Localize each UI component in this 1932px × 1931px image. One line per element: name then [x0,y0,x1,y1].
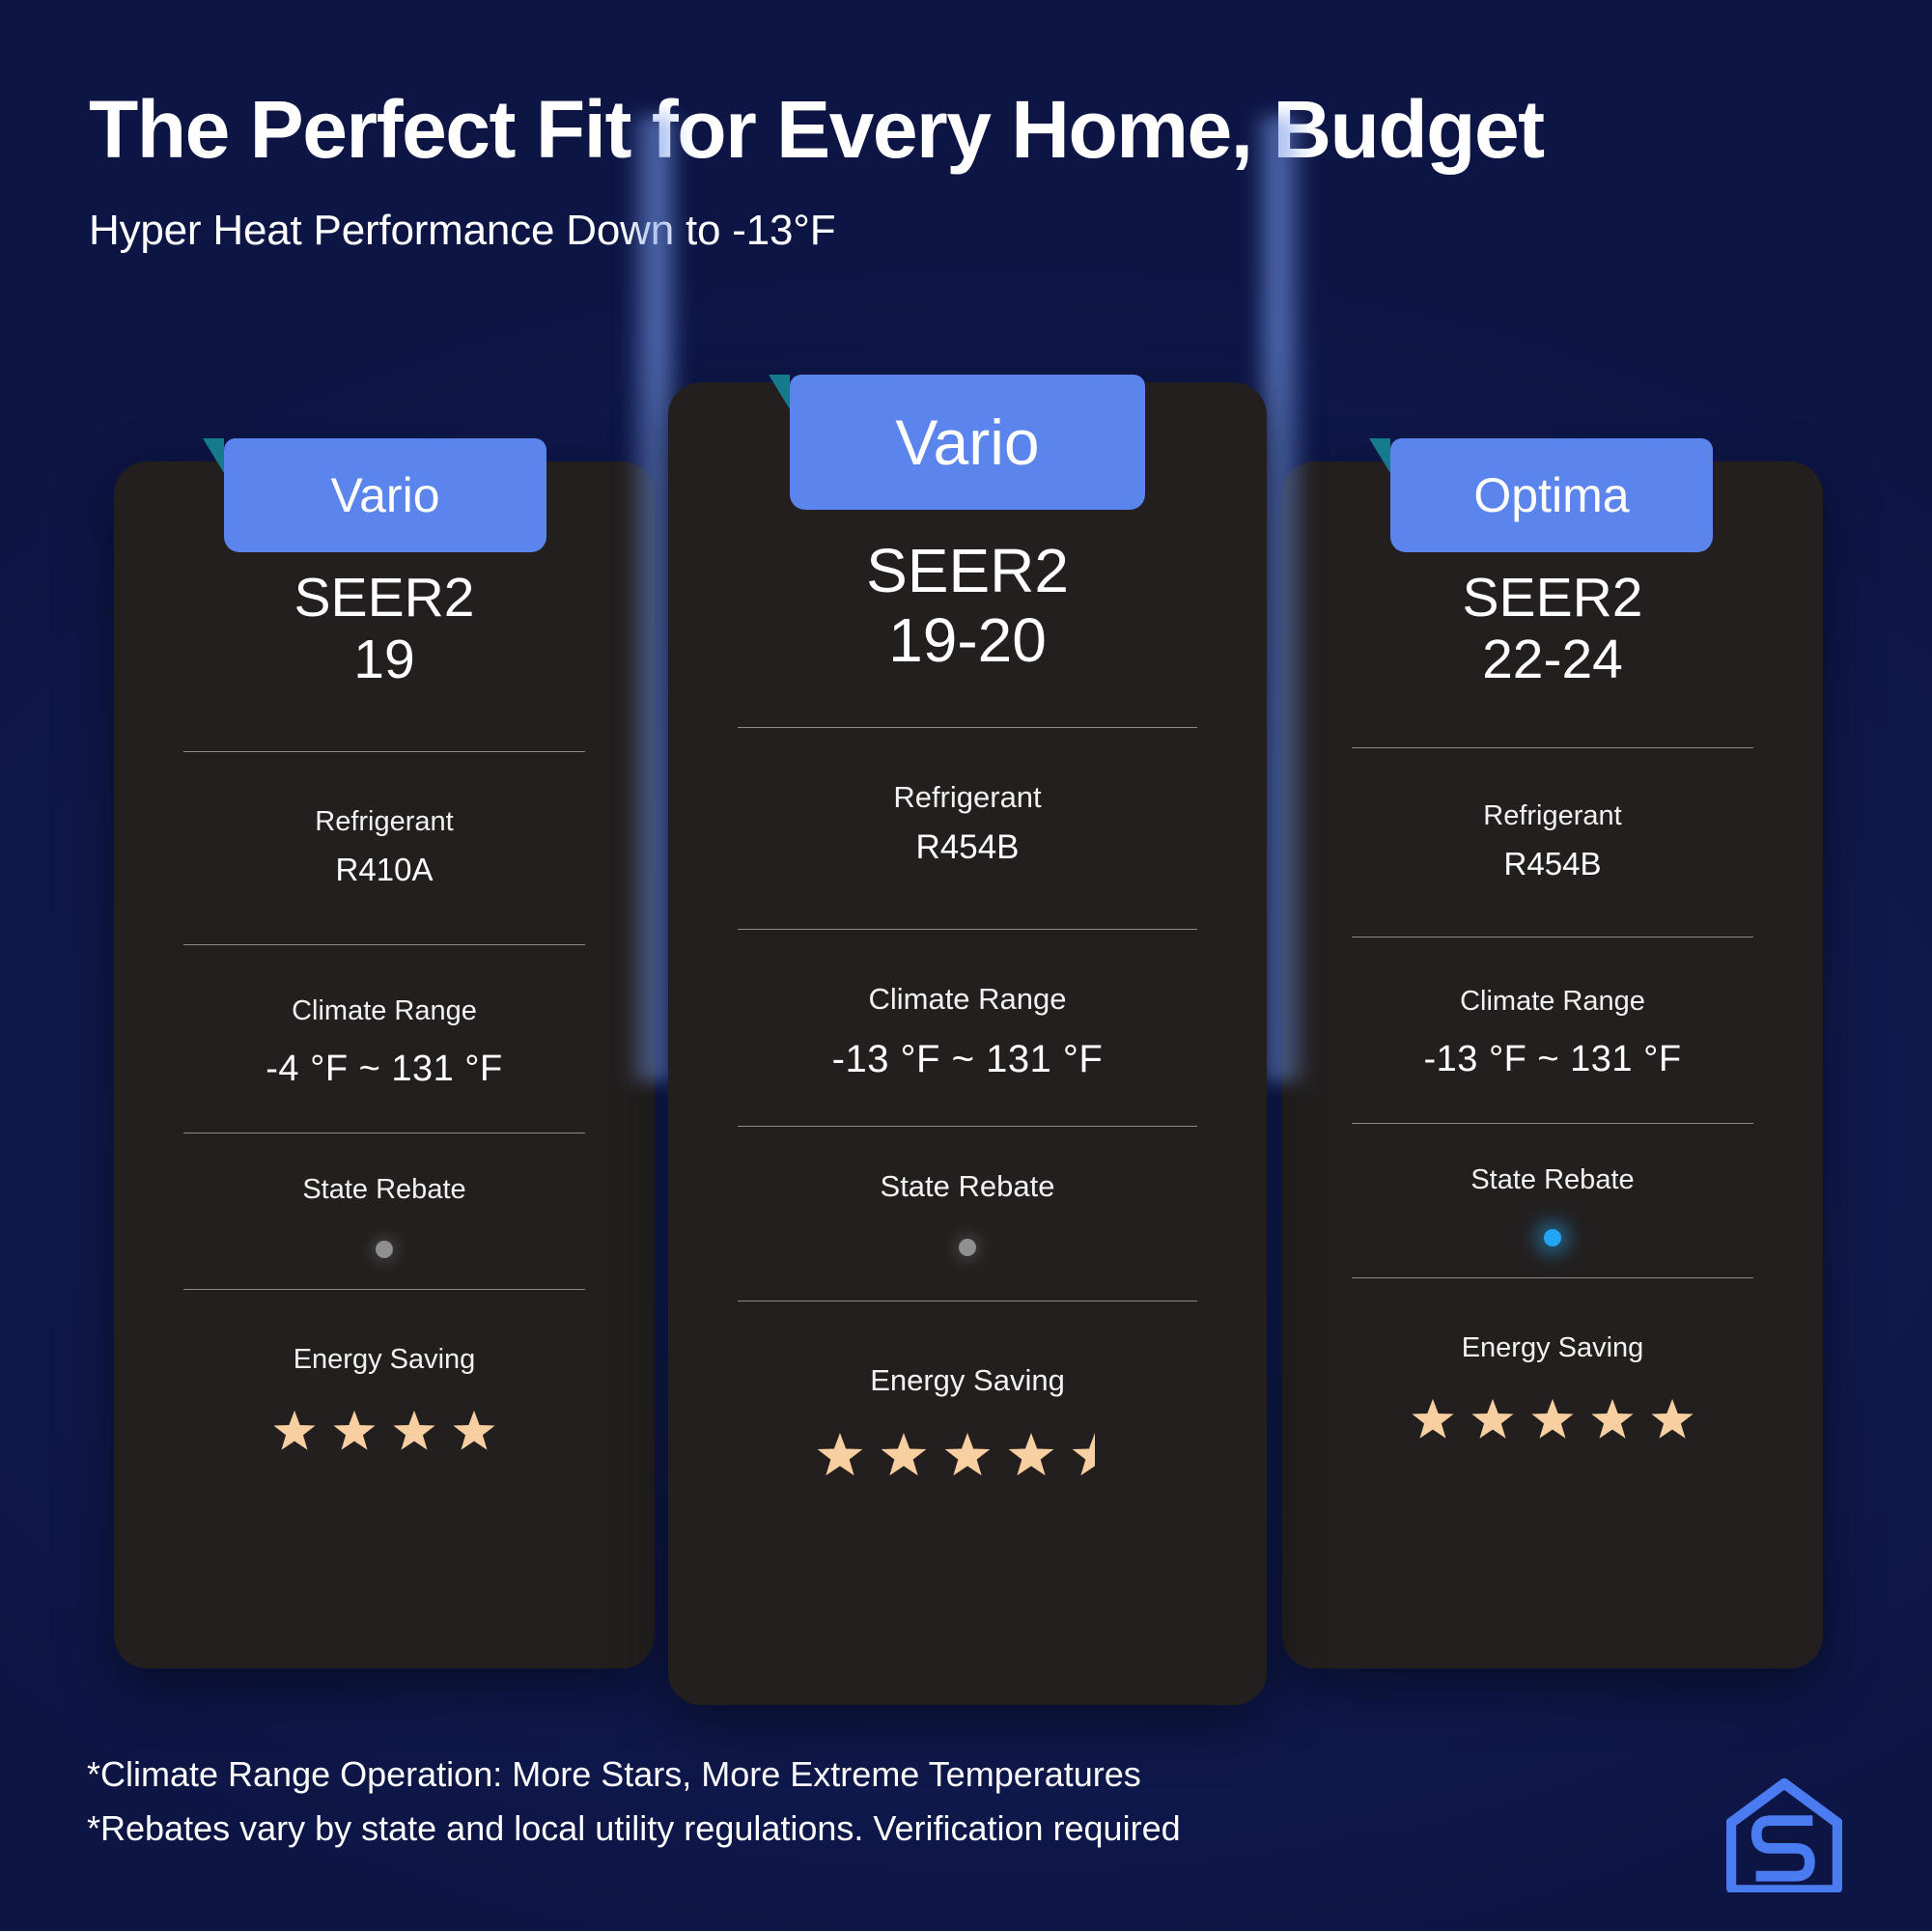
refrigerant-value: R454B [915,828,1019,867]
house-logo [1726,1777,1842,1892]
ribbon-fold-icon [769,375,790,409]
state-rebate-label: State Rebate [881,1169,1055,1204]
seer-label: SEER2 [866,537,1069,606]
climate-range-label: Climate Range [868,982,1066,1017]
energy-saving-stars [1410,1397,1695,1443]
energy-saving-label: Energy Saving [1462,1332,1644,1364]
energy-saving-stars [271,1409,497,1455]
ribbon-label: Vario [895,410,1039,474]
energy-saving-label: Energy Saving [870,1363,1065,1398]
footnotes: *Climate Range Operation: More Stars, Mo… [87,1748,1181,1856]
seer-label: SEER2 [294,568,475,630]
refrigerant-label: Refrigerant [315,806,453,838]
climate-range-value: -4 °F ~ 131 °F [266,1049,502,1090]
state-rebate-indicator-icon [376,1241,393,1258]
card-body: SEER2 22-24 Refrigerant R454B Climate Ra… [1282,568,1823,1443]
ribbon-label: Optima [1473,471,1629,519]
card-body: SEER2 19-20 Refrigerant R454B Climate Ra… [668,537,1267,1481]
product-card-vario-19[interactable]: SEER2 19 Refrigerant R410A Climate Range… [114,462,655,1668]
climate-range-value: -13 °F ~ 131 °F [832,1038,1104,1081]
climate-range-value: -13 °F ~ 131 °F [1423,1039,1681,1080]
infographic-root: The Perfect Fit for Every Home, Budget H… [0,0,1932,1931]
footnote-rebates: *Rebates vary by state and local utility… [87,1802,1181,1856]
ribbon-label: Vario [330,471,439,519]
state-rebate-indicator-icon [1544,1229,1561,1246]
ribbon-fold-icon [203,438,224,473]
ribbon-fold-icon [1369,438,1390,473]
state-rebate-indicator-icon [959,1239,976,1256]
footnote-climate-range: *Climate Range Operation: More Stars, Mo… [87,1748,1181,1802]
seer-value: 19-20 [888,606,1047,676]
ribbon-badge-optima[interactable]: Optima [1390,438,1713,552]
card-body: SEER2 19 Refrigerant R410A Climate Range… [114,568,655,1455]
seer-value: 19 [353,630,414,691]
refrigerant-label: Refrigerant [893,780,1041,815]
energy-saving-label: Energy Saving [294,1344,476,1376]
refrigerant-label: Refrigerant [1483,800,1621,832]
ribbon-badge-vario-center[interactable]: Vario [790,375,1145,510]
product-card-vario-19-20[interactable]: SEER2 19-20 Refrigerant R454B Climate Ra… [668,382,1267,1705]
refrigerant-value: R410A [336,852,434,888]
climate-range-label: Climate Range [1460,986,1645,1018]
seer-value: 22-24 [1482,630,1623,691]
energy-saving-stars [815,1431,1120,1481]
state-rebate-label: State Rebate [1470,1164,1634,1196]
comparison-cards: SEER2 19 Refrigerant R410A Climate Range… [0,0,1932,1931]
climate-range-label: Climate Range [292,995,477,1027]
state-rebate-label: State Rebate [302,1174,465,1206]
seer-label: SEER2 [1463,568,1643,630]
ribbon-badge-vario-left[interactable]: Vario [224,438,546,552]
refrigerant-value: R454B [1504,846,1602,882]
product-card-optima[interactable]: SEER2 22-24 Refrigerant R454B Climate Ra… [1282,462,1823,1668]
